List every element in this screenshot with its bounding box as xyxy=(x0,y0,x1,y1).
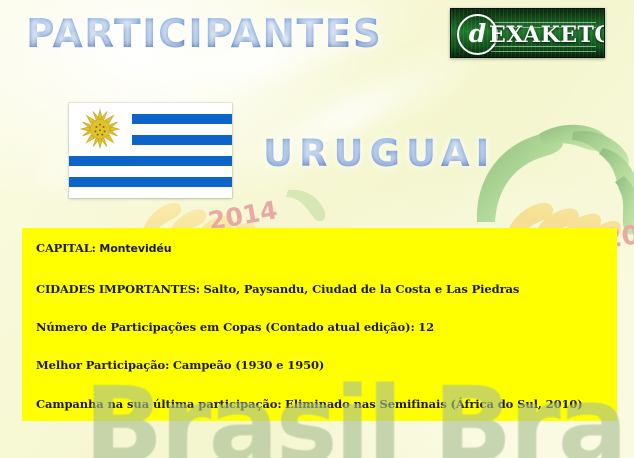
info-row-label: CIDADES IMPORTANTES xyxy=(36,282,196,296)
info-row: Melhor Participação: Campeão (1930 e 195… xyxy=(36,359,603,372)
info-row-value: 12 xyxy=(418,320,434,334)
info-row-separator: : xyxy=(165,358,169,372)
info-row-separator: : xyxy=(196,282,200,296)
brand-mark-letter: d xyxy=(469,21,486,46)
country-name: URUGUAI xyxy=(263,132,495,175)
info-row-value: Eliminado nas Semifinais (África do Sul,… xyxy=(285,397,583,411)
info-row-label: Melhor Participação xyxy=(36,358,165,372)
info-row-label: Número de Participações em Copas (Contad… xyxy=(36,320,410,334)
logo-rule xyxy=(491,51,596,52)
info-row-separator: : xyxy=(92,241,96,255)
info-row-separator: : xyxy=(277,397,281,411)
info-row-value: Campeão (1930 e 1950) xyxy=(173,358,324,372)
info-row-value: Montevidéu xyxy=(99,242,171,255)
page-title: PARTICIPANTES xyxy=(26,12,382,57)
info-row-label: Campanha na sua última participação xyxy=(36,397,277,411)
info-row: Campanha na sua última participação: Eli… xyxy=(36,398,603,411)
uruguay-flag-icon xyxy=(69,103,232,198)
info-row-label: CAPITAL xyxy=(36,241,92,255)
info-row-value: Salto, Paysandu, Ciudad de la Costa e La… xyxy=(204,282,520,296)
info-row-separator: : xyxy=(410,320,414,334)
info-row: Número de Participações em Copas (Contad… xyxy=(36,321,603,334)
brand-logo: d EXAKETO xyxy=(450,8,605,58)
info-row: CIDADES IMPORTANTES: Salto, Paysandu, Ci… xyxy=(36,283,603,296)
info-row: CAPITAL: Montevidéu xyxy=(36,242,603,256)
slide-root: 2014 2014 PARTICIPANTES xyxy=(0,0,634,458)
brand-wordmark: EXAKETO xyxy=(489,22,605,48)
info-panel: CAPITAL: Montevidéu CIDADES IMPORTANTES:… xyxy=(22,228,617,421)
